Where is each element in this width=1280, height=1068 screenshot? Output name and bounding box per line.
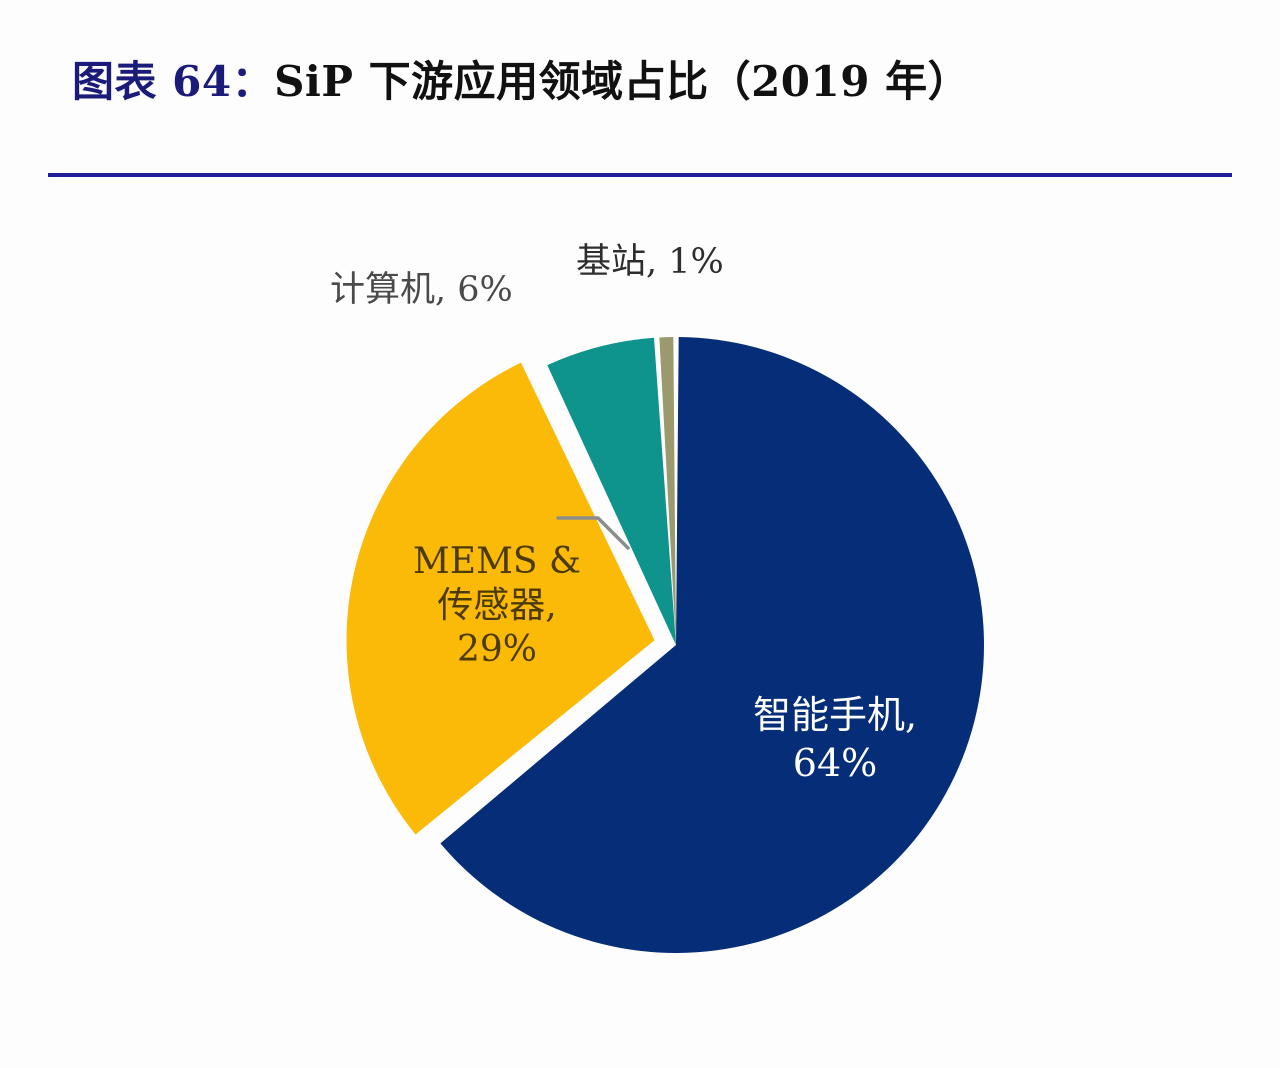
chart-header: 图表 64：SiP 下游应用领域占比（2019 年） — [0, 0, 1280, 180]
page-title-prefix: 图表 64： — [72, 57, 274, 106]
pie-chart: 计算机, 6% 基站, 1% MEMS & 传感器, 29% 智能手机, 64% — [0, 180, 1280, 1068]
pie-label-smartphone: 智能手机, 64% — [740, 692, 930, 787]
pie-label-mems-sensor-line2: 传感器, — [404, 584, 590, 628]
pie-label-computer: 计算机, 6% — [330, 270, 513, 311]
pie-label-smartphone-line1: 智能手机, — [740, 692, 930, 740]
pie-label-mems-sensor: MEMS & 传感器, 29% — [404, 540, 590, 672]
pie-label-computer-text: 计算机, 6% — [330, 270, 513, 311]
pie-chart-svg — [0, 180, 1280, 1068]
pie-label-basestation: 基站, 1% — [576, 242, 724, 283]
pie-label-mems-sensor-line3: 29% — [404, 628, 590, 672]
pie-label-smartphone-line2: 64% — [740, 740, 930, 788]
page-title: 图表 64：SiP 下游应用领域占比（2019 年） — [72, 48, 970, 109]
title-divider — [48, 173, 1232, 177]
pie-label-mems-sensor-line1: MEMS & — [404, 540, 590, 584]
pie-label-basestation-text: 基站, 1% — [576, 242, 724, 283]
page-title-rest: SiP 下游应用领域占比（2019 年） — [274, 57, 970, 106]
